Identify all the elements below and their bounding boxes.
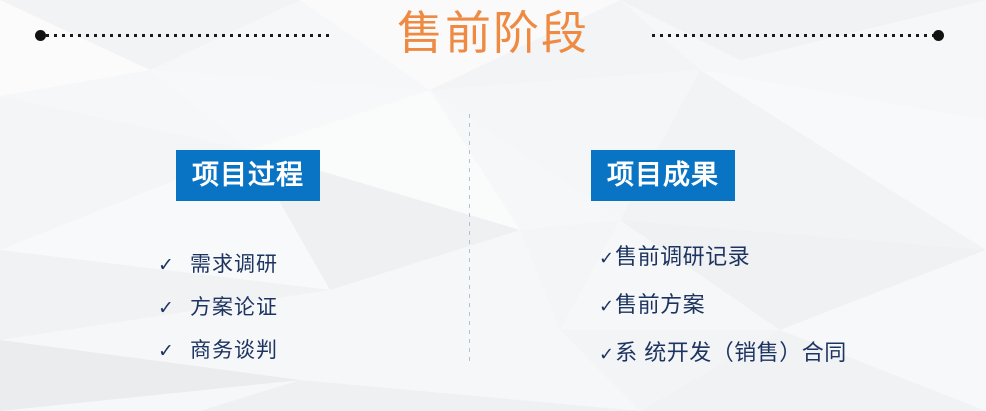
check-icon: ✓ bbox=[158, 297, 190, 320]
list-item[interactable]: ✓ 需求调研 bbox=[140, 248, 460, 291]
process-list: ✓ 需求调研 ✓ 方案论证 ✓ 商务谈判 bbox=[140, 248, 460, 377]
check-icon: ✓ bbox=[158, 340, 190, 363]
list-item[interactable]: ✓ 售前方案 bbox=[585, 287, 965, 335]
slide-header: 售前阶段 bbox=[0, 0, 986, 78]
list-item-label: 需求调研 bbox=[190, 248, 278, 278]
check-icon: ✓ bbox=[599, 296, 614, 317]
list-item[interactable]: ✓ 售前调研记录 bbox=[585, 239, 965, 287]
list-item-label: 售前调研记录 bbox=[615, 239, 750, 271]
column-heading-process: 项目过程 bbox=[176, 150, 320, 201]
list-item[interactable]: ✓ 系 统开发（销售）合同 bbox=[585, 335, 965, 383]
column-project-deliverables: 项目成果 ✓ 售前调研记录 ✓ 售前方案 ✓ 系 统开发（销售）合同 bbox=[585, 150, 965, 383]
check-icon: ✓ bbox=[599, 344, 614, 365]
slide-canvas: 售前阶段 项目过程 ✓ 需求调研 ✓ 方案论证 ✓ 商务谈判 项目成果 ✓ bbox=[0, 0, 986, 411]
list-item[interactable]: ✓ 方案论证 bbox=[140, 291, 460, 334]
column-heading-deliverables: 项目成果 bbox=[591, 150, 735, 201]
deliverables-list: ✓ 售前调研记录 ✓ 售前方案 ✓ 系 统开发（销售）合同 bbox=[585, 239, 965, 383]
check-icon: ✓ bbox=[158, 254, 190, 277]
list-item-label: 商务谈判 bbox=[190, 334, 278, 364]
slide-title: 售前阶段 bbox=[0, 6, 986, 62]
list-item-label: 系 统开发（销售）合同 bbox=[615, 335, 847, 367]
list-item-label: 售前方案 bbox=[615, 287, 705, 319]
check-icon: ✓ bbox=[599, 248, 614, 269]
column-project-process: 项目过程 ✓ 需求调研 ✓ 方案论证 ✓ 商务谈判 bbox=[140, 150, 460, 377]
column-divider bbox=[469, 114, 470, 366]
list-item-label: 方案论证 bbox=[190, 291, 278, 321]
list-item[interactable]: ✓ 商务谈判 bbox=[140, 334, 460, 377]
